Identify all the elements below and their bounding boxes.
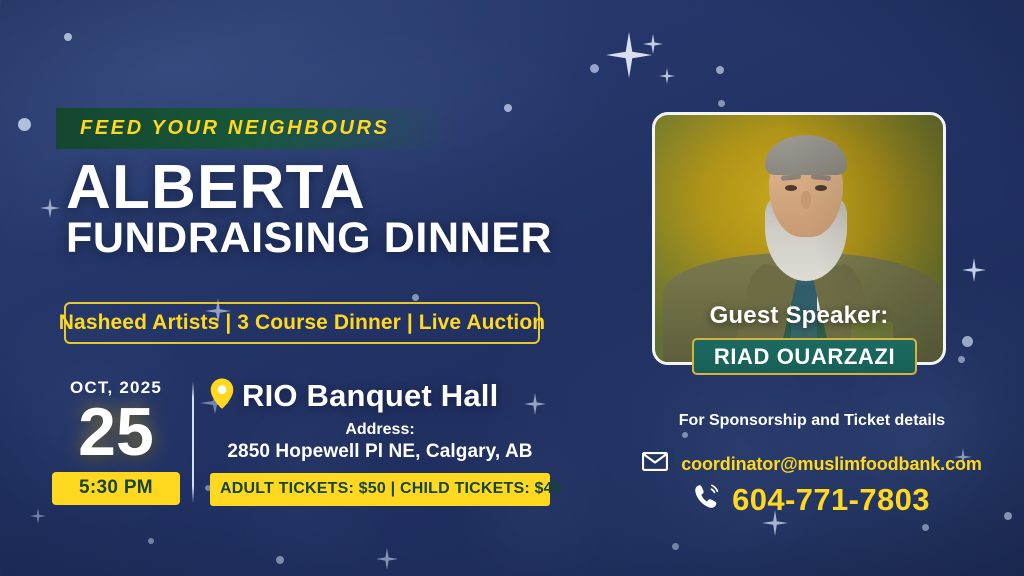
event-time-badge: 5:30 PM [52,472,180,505]
tagline-text: FEED YOUR NEIGHBOURS [56,117,389,140]
venue-block: RIO Banquet Hall Address: 2850 Hopewell … [210,378,550,506]
features-box: Nasheed Artists | 3 Course Dinner | Live… [64,302,540,344]
event-poster: FEED YOUR NEIGHBOURS ALBERTA FUNDRAISING… [0,0,1024,576]
contact-phone-row: 604-771-7803 [600,482,1024,518]
contact-email[interactable]: coordinator@muslimfoodbank.com [681,454,982,475]
tagline-banner: FEED YOUR NEIGHBOURS [56,108,456,149]
speaker-name: RIAD OUARZAZI [714,344,895,370]
features-text: Nasheed Artists | 3 Course Dinner | Live… [59,311,545,335]
date-block: OCT, 2025 25 5:30 PM [52,378,180,505]
ticket-price-banner: ADULT TICKETS: $50 | CHILD TICKETS: $40 [210,473,550,506]
vertical-divider [192,381,194,503]
contact-phone[interactable]: 604-771-7803 [732,482,930,518]
date-day: 25 [52,400,180,465]
venue-heading: RIO Banquet Hall [210,378,550,414]
right-content-column: Guest Speaker: RIAD OUARZAZI For Sponsor… [600,0,1024,576]
guest-speaker-label: Guest Speaker: [652,302,946,330]
left-content-column: FEED YOUR NEIGHBOURS ALBERTA FUNDRAISING… [0,0,600,576]
venue-address-line: 2850 Hopewell Pl NE, Calgary, AB [210,441,550,463]
contact-email-row: coordinator@muslimfoodbank.com [600,452,1024,476]
envelope-icon [642,452,668,476]
speaker-name-plaque: RIAD OUARZAZI [692,338,917,375]
venue-address-label: Address: [210,421,550,439]
contact-heading: For Sponsorship and Ticket details [600,412,1024,430]
venue-name: RIO Banquet Hall [242,378,498,414]
location-pin-icon [210,378,234,414]
event-title-sub: FUNDRAISING DINNER [66,217,552,260]
phone-icon [694,484,719,516]
event-title-main: ALBERTA [66,157,366,219]
